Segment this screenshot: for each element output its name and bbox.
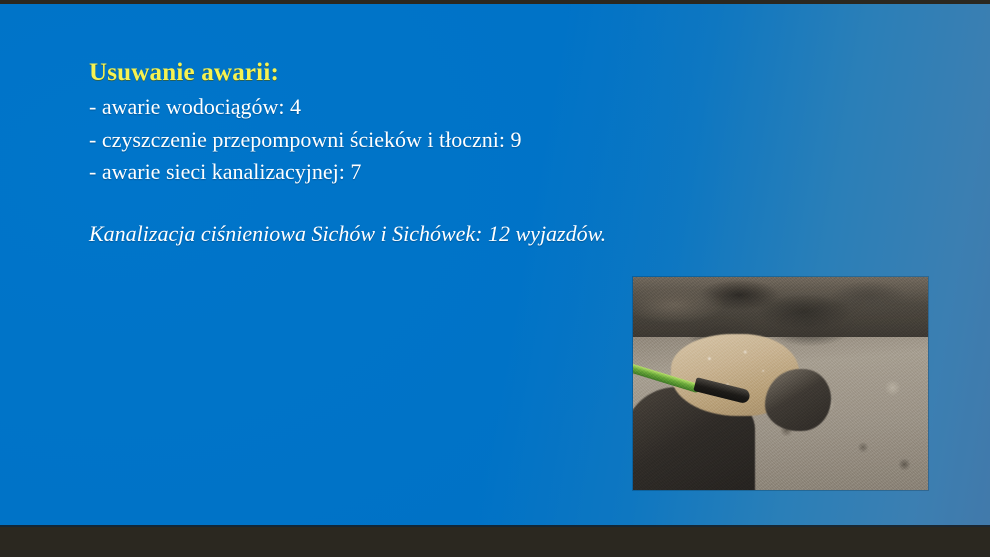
slide-text-block: Usuwanie awarii: - awarie wodociągów: 4 …	[89, 57, 649, 189]
photo-dark-soil-band	[633, 277, 928, 337]
bullet-item-water-failures: - awarie wodociągów: 4	[89, 91, 649, 124]
presentation-slide: Usuwanie awarii: - awarie wodociągów: 4 …	[0, 0, 990, 557]
bottom-decorative-band	[0, 527, 990, 557]
slide-note-pressure-sewer: Kanalizacja ciśnieniowa Sichów i Sichówe…	[89, 219, 606, 249]
excavation-photo	[633, 277, 928, 490]
slide-heading: Usuwanie awarii:	[89, 57, 649, 88]
bullet-item-sewer-failures: - awarie sieci kanalizacyjnej: 7	[89, 156, 649, 189]
top-decorative-band	[0, 0, 990, 4]
photo-rubble-lump	[765, 369, 831, 431]
bullet-item-pump-cleaning: - czyszczenie przepompowni ścieków i tło…	[89, 124, 649, 157]
